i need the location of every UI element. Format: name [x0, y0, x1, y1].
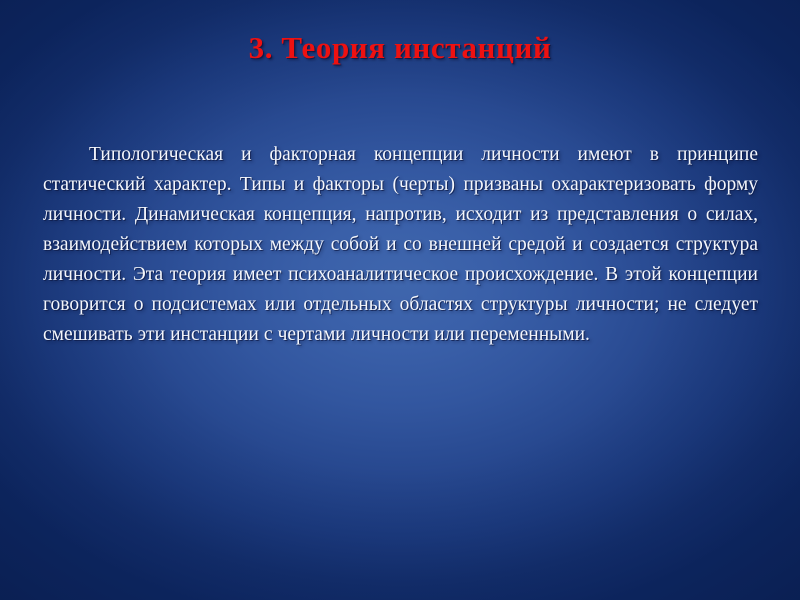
slide-body-container: Типологическая и факторная концепции лич… [43, 140, 758, 350]
slide-body-paragraph: Типологическая и факторная концепции лич… [43, 140, 758, 350]
slide-title-container: 3. Теория инстанций [0, 30, 800, 66]
presentation-slide: 3. Теория инстанций Типологическая и фак… [0, 0, 800, 600]
slide-title: 3. Теория инстанций [249, 30, 552, 66]
